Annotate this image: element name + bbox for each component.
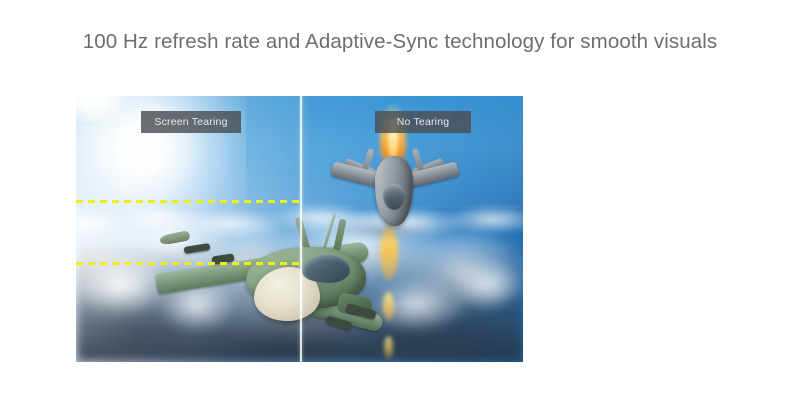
left-jet-pylon (184, 243, 211, 254)
left-jet-canopy (302, 255, 350, 283)
screen-tear-line (76, 262, 300, 265)
panel-divider (300, 96, 302, 362)
right-panel-jet (328, 132, 458, 242)
tearing-comparison-image: Screen Tearing No Tearing (76, 96, 523, 362)
page-title: 100 Hz refresh rate and Adaptive-Sync te… (0, 30, 800, 54)
left-jet-missile (159, 230, 190, 246)
screen-tearing-label: Screen Tearing (141, 111, 241, 133)
exhaust-flame-segment (384, 336, 393, 360)
screen-tear-line (76, 200, 300, 203)
no-tearing-label: No Tearing (375, 111, 471, 133)
exhaust-flame-segment (383, 292, 394, 322)
